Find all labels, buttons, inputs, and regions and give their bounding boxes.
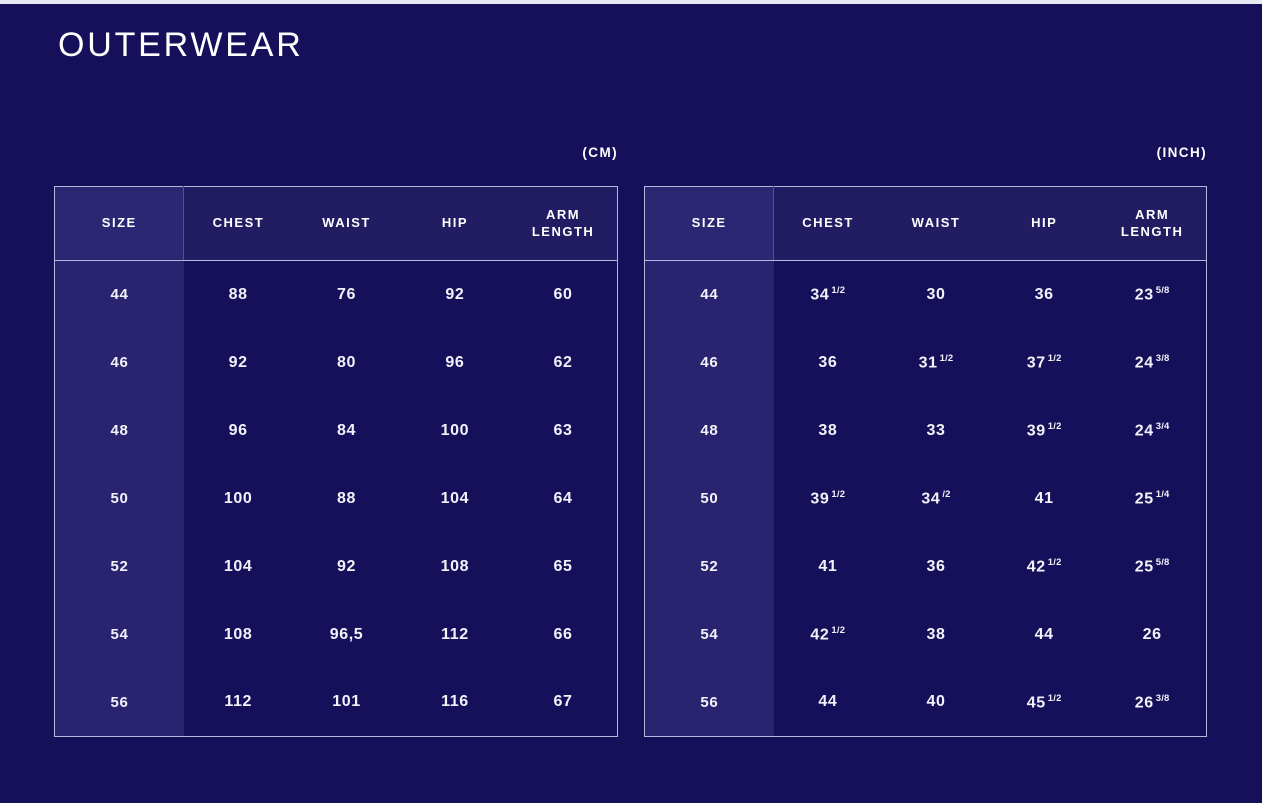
fraction-superscript: 1/2 <box>940 353 954 364</box>
cell-chest: 341/2 <box>774 261 882 329</box>
cell-chest: 108 <box>184 601 292 669</box>
unit-label-cm: (CM) <box>54 145 618 160</box>
cell-hip: 371/2 <box>990 329 1098 397</box>
fraction-superscript: 1/4 <box>1156 489 1170 500</box>
cell-arm-length: 243/8 <box>1098 329 1206 397</box>
top-edge-strip <box>0 0 1262 4</box>
cell-waist: 36 <box>882 533 990 601</box>
cell-arm-length: 60 <box>509 261 617 329</box>
column-header-chest: CHEST <box>184 187 292 261</box>
fraction-superscript: 5/8 <box>1156 285 1170 296</box>
cell-hip: 451/2 <box>990 669 1098 737</box>
cell-arm-length: 65 <box>509 533 617 601</box>
cell-chest: 92 <box>184 329 292 397</box>
table-row: 5410896,511266 <box>55 601 618 669</box>
fraction-superscript: 1/2 <box>831 625 845 636</box>
cell-arm-length: 63 <box>509 397 617 465</box>
cell-hip: 96 <box>401 329 509 397</box>
cell-size: 54 <box>55 601 184 669</box>
column-header-hip: HIP <box>401 187 509 261</box>
column-header-waist: WAIST <box>882 187 990 261</box>
cell-hip: 100 <box>401 397 509 465</box>
fraction-superscript: 3/8 <box>1156 693 1170 704</box>
table-row: 5611210111667 <box>55 669 618 737</box>
cell-waist: 80 <box>292 329 400 397</box>
cell-size: 50 <box>55 465 184 533</box>
cell-waist: 30 <box>882 261 990 329</box>
cell-hip: 421/2 <box>990 533 1098 601</box>
cell-hip: 112 <box>401 601 509 669</box>
cell-chest: 104 <box>184 533 292 601</box>
table-row: 521049210865 <box>55 533 618 601</box>
cell-chest: 100 <box>184 465 292 533</box>
fraction-superscript: 1/2 <box>1048 693 1062 704</box>
cell-waist: 76 <box>292 261 400 329</box>
fraction-superscript: /2 <box>942 489 950 500</box>
cell-chest: 96 <box>184 397 292 465</box>
cell-hip: 104 <box>401 465 509 533</box>
cell-chest: 44 <box>774 669 882 737</box>
cell-size: 56 <box>645 669 774 737</box>
cell-size: 52 <box>55 533 184 601</box>
fraction-superscript: 1/2 <box>831 285 845 296</box>
table-header-row: SIZE CHEST WAIST HIP ARM LENGTH <box>55 187 618 261</box>
cell-arm-length: 67 <box>509 669 617 737</box>
cell-waist: 34/2 <box>882 465 990 533</box>
table-row: 483833391/2243/4 <box>645 397 1207 465</box>
table-row: 4488769260 <box>55 261 618 329</box>
cell-size: 46 <box>55 329 184 397</box>
page-title: OUTERWEAR <box>58 28 304 62</box>
cell-waist: 38 <box>882 601 990 669</box>
fraction-superscript: 1/2 <box>831 489 845 500</box>
column-header-waist: WAIST <box>292 187 400 261</box>
table-row: 50391/234/241251/4 <box>645 465 1207 533</box>
cell-chest: 36 <box>774 329 882 397</box>
size-chart-page: OUTERWEAR (CM) (INCH) SIZE CHEST WAIST H… <box>0 0 1262 803</box>
cell-arm-length: 235/8 <box>1098 261 1206 329</box>
cell-arm-length: 251/4 <box>1098 465 1206 533</box>
fraction-superscript: 3/8 <box>1156 353 1170 364</box>
cell-size: 48 <box>645 397 774 465</box>
column-header-arm-length: ARM LENGTH <box>509 187 617 261</box>
fraction-superscript: 1/2 <box>1048 353 1062 364</box>
cell-chest: 421/2 <box>774 601 882 669</box>
cell-waist: 92 <box>292 533 400 601</box>
cell-hip: 36 <box>990 261 1098 329</box>
fraction-superscript: 1/2 <box>1048 421 1062 432</box>
cell-size: 46 <box>645 329 774 397</box>
column-header-arm-length: ARM LENGTH <box>1098 187 1206 261</box>
cell-arm-length: 255/8 <box>1098 533 1206 601</box>
cell-size: 44 <box>55 261 184 329</box>
table-header-row: SIZE CHEST WAIST HIP ARM LENGTH <box>645 187 1207 261</box>
cell-waist: 96,5 <box>292 601 400 669</box>
cell-chest: 112 <box>184 669 292 737</box>
cell-size: 50 <box>645 465 774 533</box>
table-row: 501008810464 <box>55 465 618 533</box>
column-header-hip: HIP <box>990 187 1098 261</box>
cell-chest: 38 <box>774 397 882 465</box>
table-row: 524136421/2255/8 <box>645 533 1207 601</box>
cell-waist: 33 <box>882 397 990 465</box>
cell-hip: 44 <box>990 601 1098 669</box>
unit-label-inch: (INCH) <box>644 145 1207 160</box>
cell-arm-length: 64 <box>509 465 617 533</box>
cell-waist: 311/2 <box>882 329 990 397</box>
cell-hip: 92 <box>401 261 509 329</box>
cell-size: 48 <box>55 397 184 465</box>
cell-arm-length: 66 <box>509 601 617 669</box>
cell-arm-length: 26 <box>1098 601 1206 669</box>
cell-hip: 391/2 <box>990 397 1098 465</box>
cell-waist: 88 <box>292 465 400 533</box>
cell-chest: 391/2 <box>774 465 882 533</box>
cell-arm-length: 263/8 <box>1098 669 1206 737</box>
column-header-size: SIZE <box>55 187 184 261</box>
table-row: 564440451/2263/8 <box>645 669 1207 737</box>
table-row: 48968410063 <box>55 397 618 465</box>
cell-hip: 108 <box>401 533 509 601</box>
cell-waist: 84 <box>292 397 400 465</box>
size-table-cm: SIZE CHEST WAIST HIP ARM LENGTH 44887692… <box>54 186 618 737</box>
cell-waist: 40 <box>882 669 990 737</box>
cell-waist: 101 <box>292 669 400 737</box>
cell-chest: 41 <box>774 533 882 601</box>
fraction-superscript: 5/8 <box>1156 557 1170 568</box>
table-row: 54421/2384426 <box>645 601 1207 669</box>
column-header-size: SIZE <box>645 187 774 261</box>
table-row: 44341/23036235/8 <box>645 261 1207 329</box>
size-table-inch: SIZE CHEST WAIST HIP ARM LENGTH 44341/23… <box>644 186 1207 737</box>
column-header-chest: CHEST <box>774 187 882 261</box>
cell-hip: 41 <box>990 465 1098 533</box>
fraction-superscript: 1/2 <box>1048 557 1062 568</box>
cell-size: 54 <box>645 601 774 669</box>
cell-hip: 116 <box>401 669 509 737</box>
cell-size: 52 <box>645 533 774 601</box>
fraction-superscript: 3/4 <box>1156 421 1170 432</box>
cell-size: 44 <box>645 261 774 329</box>
cell-chest: 88 <box>184 261 292 329</box>
table-row: 4636311/2371/2243/8 <box>645 329 1207 397</box>
table-row: 4692809662 <box>55 329 618 397</box>
cell-arm-length: 62 <box>509 329 617 397</box>
cell-size: 56 <box>55 669 184 737</box>
cell-arm-length: 243/4 <box>1098 397 1206 465</box>
